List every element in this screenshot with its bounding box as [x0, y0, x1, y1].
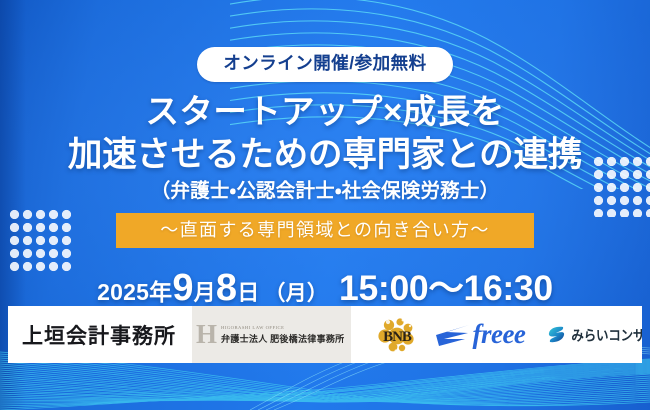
event-datetime: 2025年 9 月 8 日 （月） 15:00〜16:30	[97, 260, 553, 311]
event-month-unit: 月	[194, 275, 216, 307]
logo-kamigaki-accounting: 上垣会計事務所	[22, 306, 176, 363]
session-theme-ribbon: 〜直面する専門領域との向き合い方〜	[116, 213, 534, 248]
event-year: 2025年	[97, 273, 172, 307]
event-month-number: 9	[172, 267, 193, 310]
higobashi-h-mark-icon: H	[196, 323, 217, 346]
event-day-unit: 日	[237, 275, 259, 307]
mirai-wordmark: みらいコンサルティンググループ	[571, 324, 642, 345]
page-title-line-2: 加速させるための専門家との連携	[68, 134, 582, 177]
page-title-line-1: スタートアップ×成長を	[68, 92, 582, 134]
higobashi-name-jp: 弁護士法人 肥後橋法律事務所	[221, 332, 344, 345]
logo-mirai-consulting-group: みらいコンサルティンググループ	[547, 306, 642, 363]
page-title: スタートアップ×成長を 加速させるための専門家との連携	[68, 92, 582, 178]
logo-higobashi-law-office: H HIGOBASHI LAW OFFICE 弁護士法人 肥後橋法律事務所	[192, 306, 351, 363]
freee-wordmark: freee	[472, 321, 525, 348]
svg-text:BNB: BNB	[384, 329, 413, 345]
event-format-badge: オンライン開催/参加無料	[197, 47, 452, 82]
mirai-mark-icon	[547, 325, 566, 344]
webinar-banner: オンライン開催/参加無料 スタートアップ×成長を 加速させるための専門家との連携…	[0, 0, 650, 410]
bnb-mark-icon: BNB	[377, 316, 417, 354]
page-subtitle-professions: （弁護士・公認会計士・社会保険労務士）	[151, 182, 500, 202]
sponsor-logo-strip: 上垣会計事務所 H HIGOBASHI LAW OFFICE 弁護士法人 肥後橋…	[8, 306, 642, 363]
logo-bnb: BNB	[377, 316, 417, 354]
event-day-number: 8	[216, 267, 237, 310]
event-weekday: （月）	[264, 277, 328, 307]
higobashi-name-en: HIGOBASHI LAW OFFICE	[221, 325, 344, 330]
event-time-range: 15:00〜16:30	[339, 260, 553, 311]
freee-swallow-mark-icon	[435, 322, 471, 348]
logo-freee: freee	[435, 306, 525, 363]
